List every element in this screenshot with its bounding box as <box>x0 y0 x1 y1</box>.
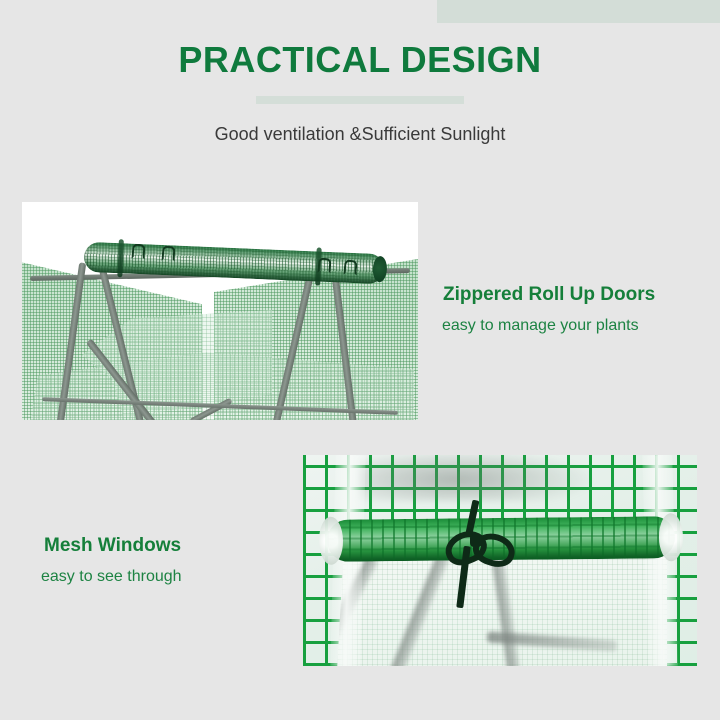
header: PRACTICAL DESIGN Good ventilation &Suffi… <box>0 38 720 146</box>
mesh-window-closeup <box>303 455 697 666</box>
caption-zippered-roll-up-doors: Zippered Roll Up Doors easy to manage yo… <box>443 283 655 337</box>
title-divider <box>256 96 464 104</box>
caption-mesh-windows: Mesh Windows easy to see through <box>44 534 182 588</box>
header-accent-bar <box>437 0 720 23</box>
frame-shadow-through-mesh <box>358 455 602 501</box>
door-clip-4 <box>343 260 357 276</box>
door-clip-2 <box>161 246 175 262</box>
roll-end-cap-right <box>659 513 684 561</box>
greenhouse-illustration <box>22 202 418 420</box>
page-title: PRACTICAL DESIGN <box>0 38 720 82</box>
feature-subtitle: easy to see through <box>41 566 182 588</box>
ribbon-tail-upper <box>466 500 480 535</box>
page-subtitle: Good ventilation &Sufficient Sunlight <box>0 122 720 146</box>
roll-end-cap-left <box>319 517 344 565</box>
ribbon-knot <box>470 534 482 547</box>
pane-frame-shadow-2 <box>382 543 454 666</box>
door-clip-1 <box>131 244 145 260</box>
feature-title: Zippered Roll Up Doors <box>443 283 655 307</box>
feature-title: Mesh Windows <box>44 534 182 558</box>
feature-photo-roll-up-door <box>22 202 418 420</box>
roll-strap-1 <box>117 239 124 277</box>
feature-photo-mesh-window <box>303 455 697 666</box>
feature-subtitle: easy to manage your plants <box>442 315 655 337</box>
door-clip-3 <box>317 258 331 274</box>
ribbon-bow-tie <box>445 514 521 612</box>
